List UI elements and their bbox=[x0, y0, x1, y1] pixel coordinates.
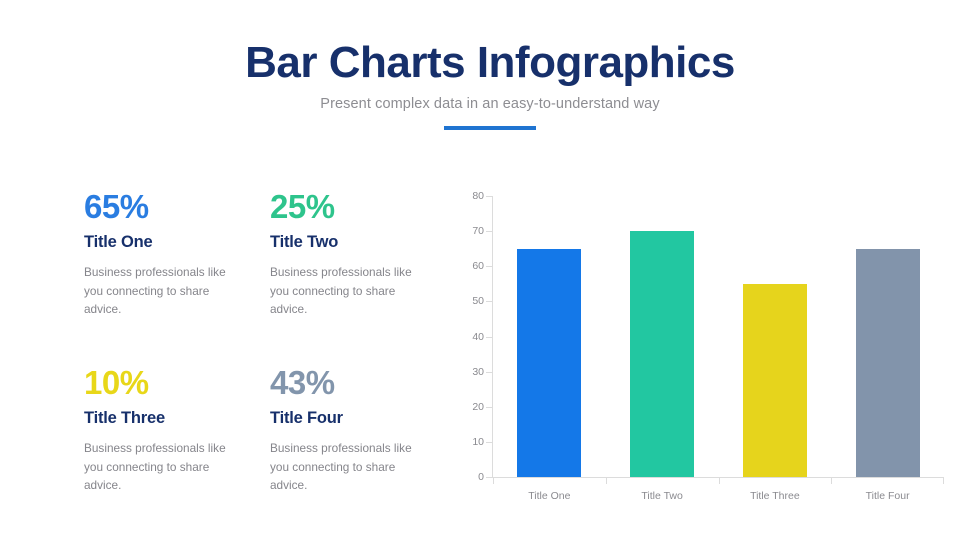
bars-container bbox=[493, 196, 944, 477]
page-subtitle: Present complex data in an easy-to-under… bbox=[0, 96, 980, 112]
x-axis-tick-mark bbox=[493, 478, 494, 484]
bar-slot bbox=[831, 196, 944, 477]
y-axis-tick-mark bbox=[486, 372, 492, 373]
x-axis-tick-mark bbox=[606, 478, 607, 484]
bar-1[interactable] bbox=[517, 249, 581, 477]
infographic-slide: Bar Charts Infographics Present complex … bbox=[0, 0, 980, 551]
y-axis-tick-mark bbox=[486, 266, 492, 267]
stat-block-one: 65% Title One Business professionals lik… bbox=[84, 190, 270, 366]
bar-chart: 01020304050607080 Title OneTitle TwoTitl… bbox=[452, 188, 952, 508]
stat-title-two: Title Two bbox=[270, 233, 434, 252]
page-title: Bar Charts Infographics bbox=[0, 38, 980, 87]
stat-percent-four: 43% bbox=[270, 366, 434, 399]
y-axis-tick-label: 80 bbox=[454, 190, 484, 202]
y-axis-tick-label: 10 bbox=[454, 436, 484, 448]
stat-description-two: Business professionals like you connecti… bbox=[270, 263, 420, 319]
x-axis-tick-labels: Title OneTitle TwoTitle ThreeTitle Four bbox=[493, 478, 944, 502]
stat-title-four: Title Four bbox=[270, 409, 434, 428]
x-axis-tick-mark bbox=[943, 478, 944, 484]
y-axis-tick-mark bbox=[486, 477, 492, 478]
stat-percent-three: 10% bbox=[84, 366, 270, 399]
x-axis-slot: Title Four bbox=[831, 478, 944, 502]
y-axis-tick-label: 30 bbox=[454, 366, 484, 378]
x-axis-tick-label: Title Two bbox=[606, 490, 719, 502]
bar-slot bbox=[493, 196, 606, 477]
y-axis-tick-label: 50 bbox=[454, 295, 484, 307]
y-axis-tick-mark bbox=[486, 196, 492, 197]
stat-percent-one: 65% bbox=[84, 190, 270, 223]
stat-title-three: Title Three bbox=[84, 409, 270, 428]
accent-divider bbox=[444, 126, 536, 130]
y-axis-tick-label: 20 bbox=[454, 401, 484, 413]
x-axis-tick-mark bbox=[719, 478, 720, 484]
y-axis-tick-labels: 01020304050607080 bbox=[452, 188, 484, 478]
y-axis-tick-mark bbox=[486, 407, 492, 408]
stat-description-one: Business professionals like you connecti… bbox=[84, 263, 234, 319]
stat-description-three: Business professionals like you connecti… bbox=[84, 439, 234, 495]
chart-plot-area: 01020304050607080 Title OneTitle TwoTitl… bbox=[452, 188, 952, 508]
bar-2[interactable] bbox=[630, 231, 694, 477]
bar-4[interactable] bbox=[856, 249, 920, 477]
x-axis-tick-label: Title Four bbox=[831, 490, 944, 502]
stat-block-three: 10% Title Three Business professionals l… bbox=[84, 366, 270, 542]
x-axis-slot: Title One bbox=[493, 478, 606, 502]
y-axis-tick-label: 70 bbox=[454, 225, 484, 237]
y-axis-tick-label: 60 bbox=[454, 260, 484, 272]
y-axis-tick-mark bbox=[486, 231, 492, 232]
x-axis-tick-label: Title Three bbox=[719, 490, 832, 502]
stat-title-one: Title One bbox=[84, 233, 270, 252]
stats-grid: 65% Title One Business professionals lik… bbox=[84, 190, 434, 542]
x-axis-slot: Title Three bbox=[719, 478, 832, 502]
x-axis-tick-label: Title One bbox=[493, 490, 606, 502]
y-axis-tick-label: 40 bbox=[454, 331, 484, 343]
bar-slot bbox=[719, 196, 832, 477]
y-axis-tick-mark bbox=[486, 442, 492, 443]
y-axis-tick-label: 0 bbox=[454, 471, 484, 483]
header: Bar Charts Infographics Present complex … bbox=[0, 38, 980, 130]
bar-3[interactable] bbox=[743, 284, 807, 477]
stat-percent-two: 25% bbox=[270, 190, 434, 223]
bar-slot bbox=[606, 196, 719, 477]
x-axis-tick-mark bbox=[831, 478, 832, 484]
x-axis-slot: Title Two bbox=[606, 478, 719, 502]
stat-description-four: Business professionals like you connecti… bbox=[270, 439, 420, 495]
y-axis-tick-mark bbox=[486, 301, 492, 302]
stat-block-two: 25% Title Two Business professionals lik… bbox=[270, 190, 434, 366]
stat-block-four: 43% Title Four Business professionals li… bbox=[270, 366, 434, 542]
y-axis-tick-mark bbox=[486, 337, 492, 338]
